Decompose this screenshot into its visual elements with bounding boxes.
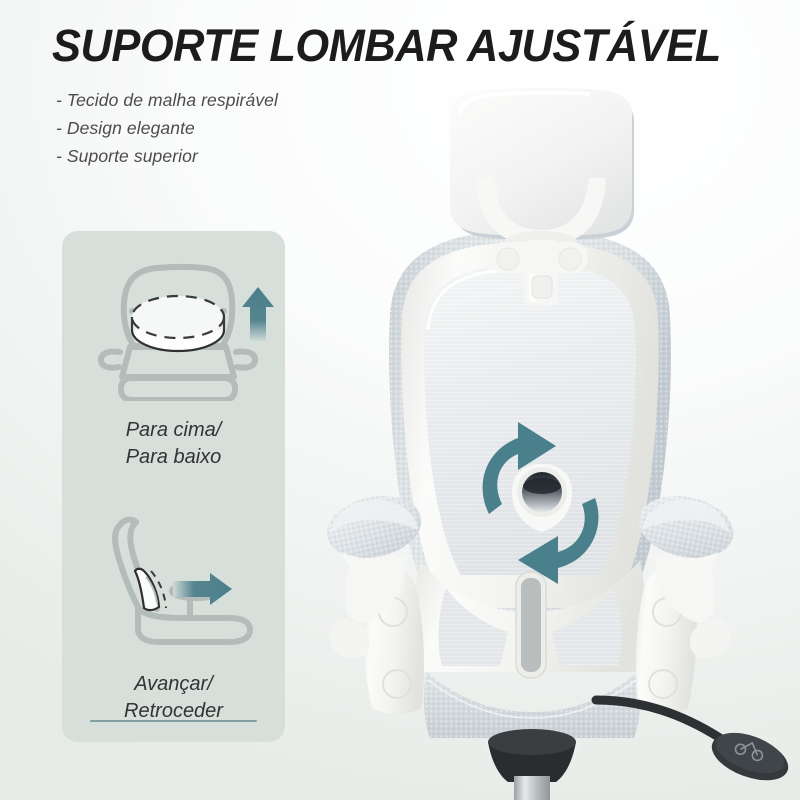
caption-line-1: Avançar/: [134, 673, 213, 695]
caption-line-2: Para baixo: [126, 446, 222, 468]
caption-line-1: Para cima/: [126, 419, 222, 441]
caption-line-2: Retroceder: [124, 700, 223, 722]
office-chair-photo: [250, 60, 800, 800]
backrest-yoke: [488, 242, 588, 274]
gas-cylinder: [484, 729, 580, 800]
product-banner: SUPORTE LOMBAR AJUSTÁVEL - Tecido de mal…: [0, 0, 800, 800]
